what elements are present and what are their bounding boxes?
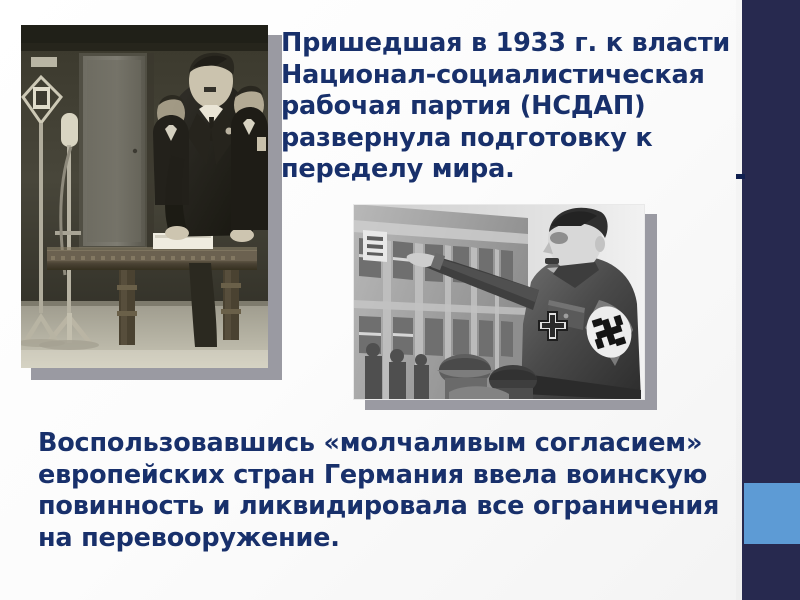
right-tick-mark <box>736 174 745 179</box>
paragraph-top: Пришедшая в 1933 г. к власти Национал-со… <box>281 28 759 186</box>
photo-speech-at-table <box>21 25 268 368</box>
photo-salute-street-graphic <box>353 204 645 400</box>
paragraph-bottom: Воспользовавшись «молчаливым согласием» … <box>38 428 738 554</box>
photo-speech-at-table-graphic <box>21 25 268 368</box>
photo-salute-street <box>353 204 645 400</box>
right-blue-block <box>744 483 800 544</box>
slide-canvas: Пришедшая в 1933 г. к власти Национал-со… <box>0 0 800 600</box>
